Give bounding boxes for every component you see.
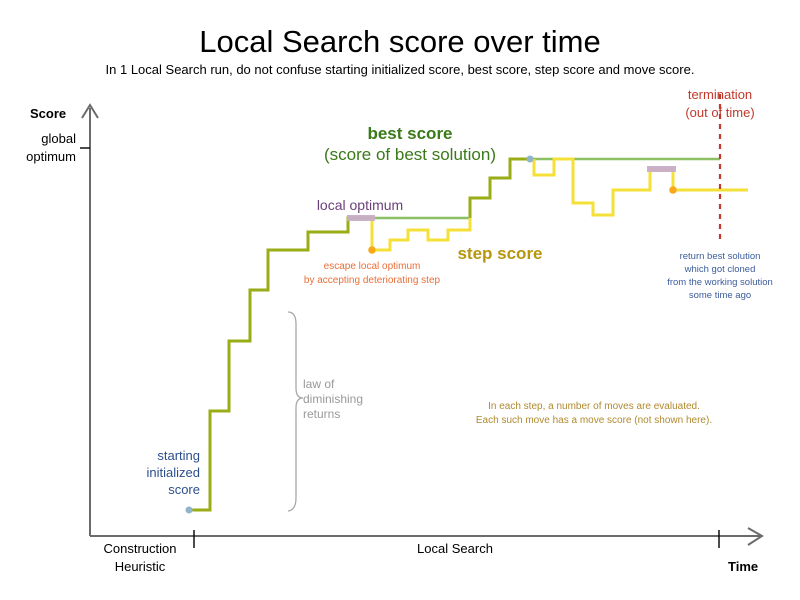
termination-label-line2: (out of time) <box>685 105 754 120</box>
return-label-line3: from the working solution <box>667 277 773 288</box>
step-score-yellow-line-2 <box>534 159 748 215</box>
law-label-line1: law of <box>303 377 335 391</box>
y-tick-label-line2: optimum <box>26 149 76 164</box>
y-tick-label-line1: global <box>41 131 76 146</box>
x-phase-local-search: Local Search <box>417 541 493 556</box>
step-score-label: step score <box>457 244 542 263</box>
escape-label-line2: by accepting deteriorating step <box>304 275 441 286</box>
x-phase-construction-line2: Heuristic <box>115 559 166 574</box>
starting-initialized-score-dot <box>186 507 193 514</box>
starting-score-label-line1: starting <box>157 448 200 463</box>
local-optimum-label: local optimum <box>317 197 403 213</box>
diminishing-returns-brace <box>288 312 303 511</box>
best-score-olive-line-2 <box>470 159 534 218</box>
return-label-line2: which got cloned <box>684 264 756 275</box>
x-phase-construction-line1: Construction <box>104 541 177 556</box>
starting-score-label-line2: initialized <box>147 465 200 480</box>
law-label-line3: returns <box>303 407 340 421</box>
escape-label-line1: escape local optimum <box>324 261 421 272</box>
x-axis-label: Time <box>728 559 758 574</box>
page-title: Local Search score over time <box>199 24 600 59</box>
return-label-line4: some time ago <box>689 290 751 301</box>
escape-local-optimum-dot-1 <box>368 246 376 254</box>
moves-note-line2: Each such move has a move score (not sho… <box>476 415 712 426</box>
starting-score-label-line3: score <box>168 482 200 497</box>
step-score-yellow-line <box>372 218 470 250</box>
termination-label-line1: termination <box>688 87 752 102</box>
best-score-sublabel: (score of best solution) <box>324 145 496 164</box>
escape-local-optimum-dot-2 <box>669 186 677 194</box>
page-subtitle: In 1 Local Search run, do not confuse st… <box>106 62 695 77</box>
best-score-label: best score <box>367 124 452 143</box>
best-solution-clone-dot <box>527 156 534 163</box>
diagram-canvas: Local Search score over time In 1 Local … <box>0 0 800 600</box>
moves-note-line1: In each step, a number of moves are eval… <box>488 401 700 412</box>
law-label-line2: diminishing <box>303 392 363 406</box>
y-axis <box>80 105 98 536</box>
y-axis-label: Score <box>30 106 66 121</box>
return-label-line1: return best solution <box>680 251 761 262</box>
